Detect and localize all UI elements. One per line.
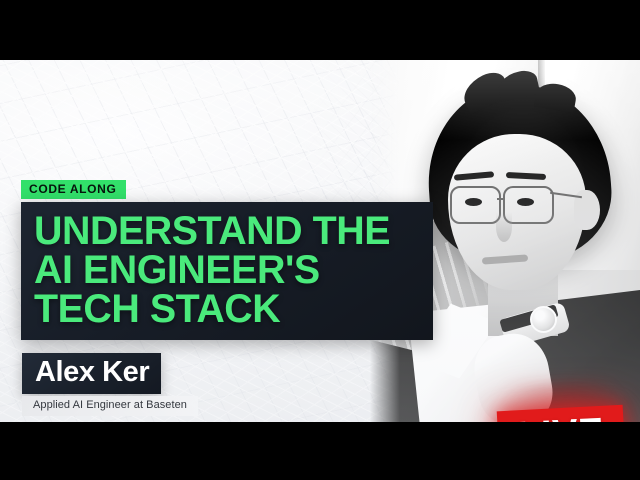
video-thumbnail: CODE ALONG UNDERSTAND THE AI ENGINEER'S … bbox=[0, 0, 640, 480]
speaker-name: Alex Ker bbox=[35, 357, 149, 388]
title-panel: UNDERSTAND THE AI ENGINEER'S TECH STACK bbox=[21, 202, 433, 340]
title-line-3: TECH STACK bbox=[34, 290, 415, 329]
speaker-role: Applied AI Engineer at Baseten bbox=[33, 399, 187, 412]
speaker-role-strip: Applied AI Engineer at Baseten bbox=[22, 396, 198, 416]
thumbnail-stage: CODE ALONG UNDERSTAND THE AI ENGINEER'S … bbox=[0, 60, 640, 422]
speaker-name-block: Alex Ker bbox=[22, 353, 161, 394]
code-along-label: CODE ALONG bbox=[29, 183, 117, 195]
live-label: LIVE bbox=[517, 413, 605, 422]
live-badge-wrapper: LIVE bbox=[497, 405, 626, 422]
code-along-badge: CODE ALONG bbox=[21, 180, 126, 199]
title-line-2: AI ENGINEER'S bbox=[34, 251, 415, 290]
title-line-1: UNDERSTAND THE bbox=[34, 212, 415, 251]
letterbox-bar-top bbox=[0, 0, 640, 60]
letterbox-bar-bottom bbox=[0, 422, 640, 480]
